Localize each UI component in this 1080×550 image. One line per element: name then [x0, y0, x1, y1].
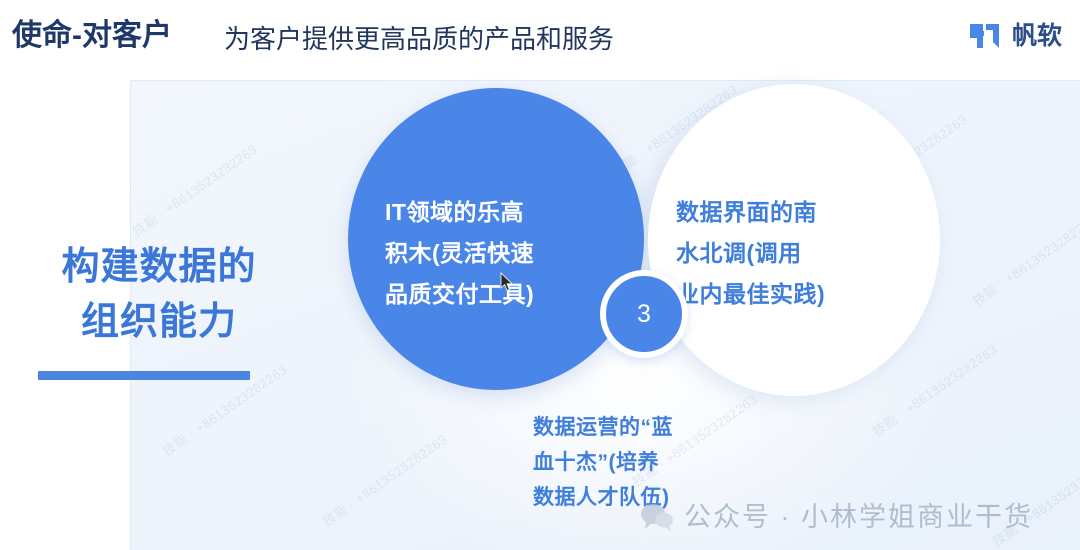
mouse-pointer-icon — [500, 272, 514, 292]
channel-separator: · — [781, 502, 792, 532]
channel-name: 小林学姐商业干货 — [801, 502, 1033, 532]
section-headline-line1: 构建数据的 — [61, 246, 256, 288]
section-headline: 构建数据的 组织能力 — [24, 240, 294, 350]
venn-circle-blue-label: IT领域的乐高 积木(灵活快速 品质交付工具) — [385, 192, 615, 315]
chat-bubble-icon — [640, 502, 674, 532]
headline-underline — [38, 371, 250, 380]
channel-watermark-text: 公众号 · 小林学姐商业干货 — [684, 500, 1033, 534]
brand-logo-text: 帆软 — [1012, 21, 1062, 51]
venn-circle-white-label: 数据界面的南 水北调(调用 业内最佳实践) — [676, 192, 906, 315]
slide-canvas: 技能 · +8613523282263 技能 · +8613523282263 … — [0, 0, 1080, 550]
section-headline-line2: 组织能力 — [24, 295, 294, 350]
venn-center-badge: 3 — [600, 270, 688, 358]
fanruan-logo-icon — [968, 20, 1004, 52]
page-title: 使命-对客户 — [12, 16, 172, 56]
page-subtitle: 为客户提供更高品质的产品和服务 — [224, 22, 614, 56]
brand-logo: 帆软 — [968, 20, 1062, 52]
slide-header: 使命-对客户 为客户提供更高品质的产品和服务 帆软 — [0, 0, 1080, 72]
channel-watermark: 公众号 · 小林学姐商业干货 — [640, 500, 1033, 534]
channel-prefix: 公众号 — [684, 502, 771, 532]
